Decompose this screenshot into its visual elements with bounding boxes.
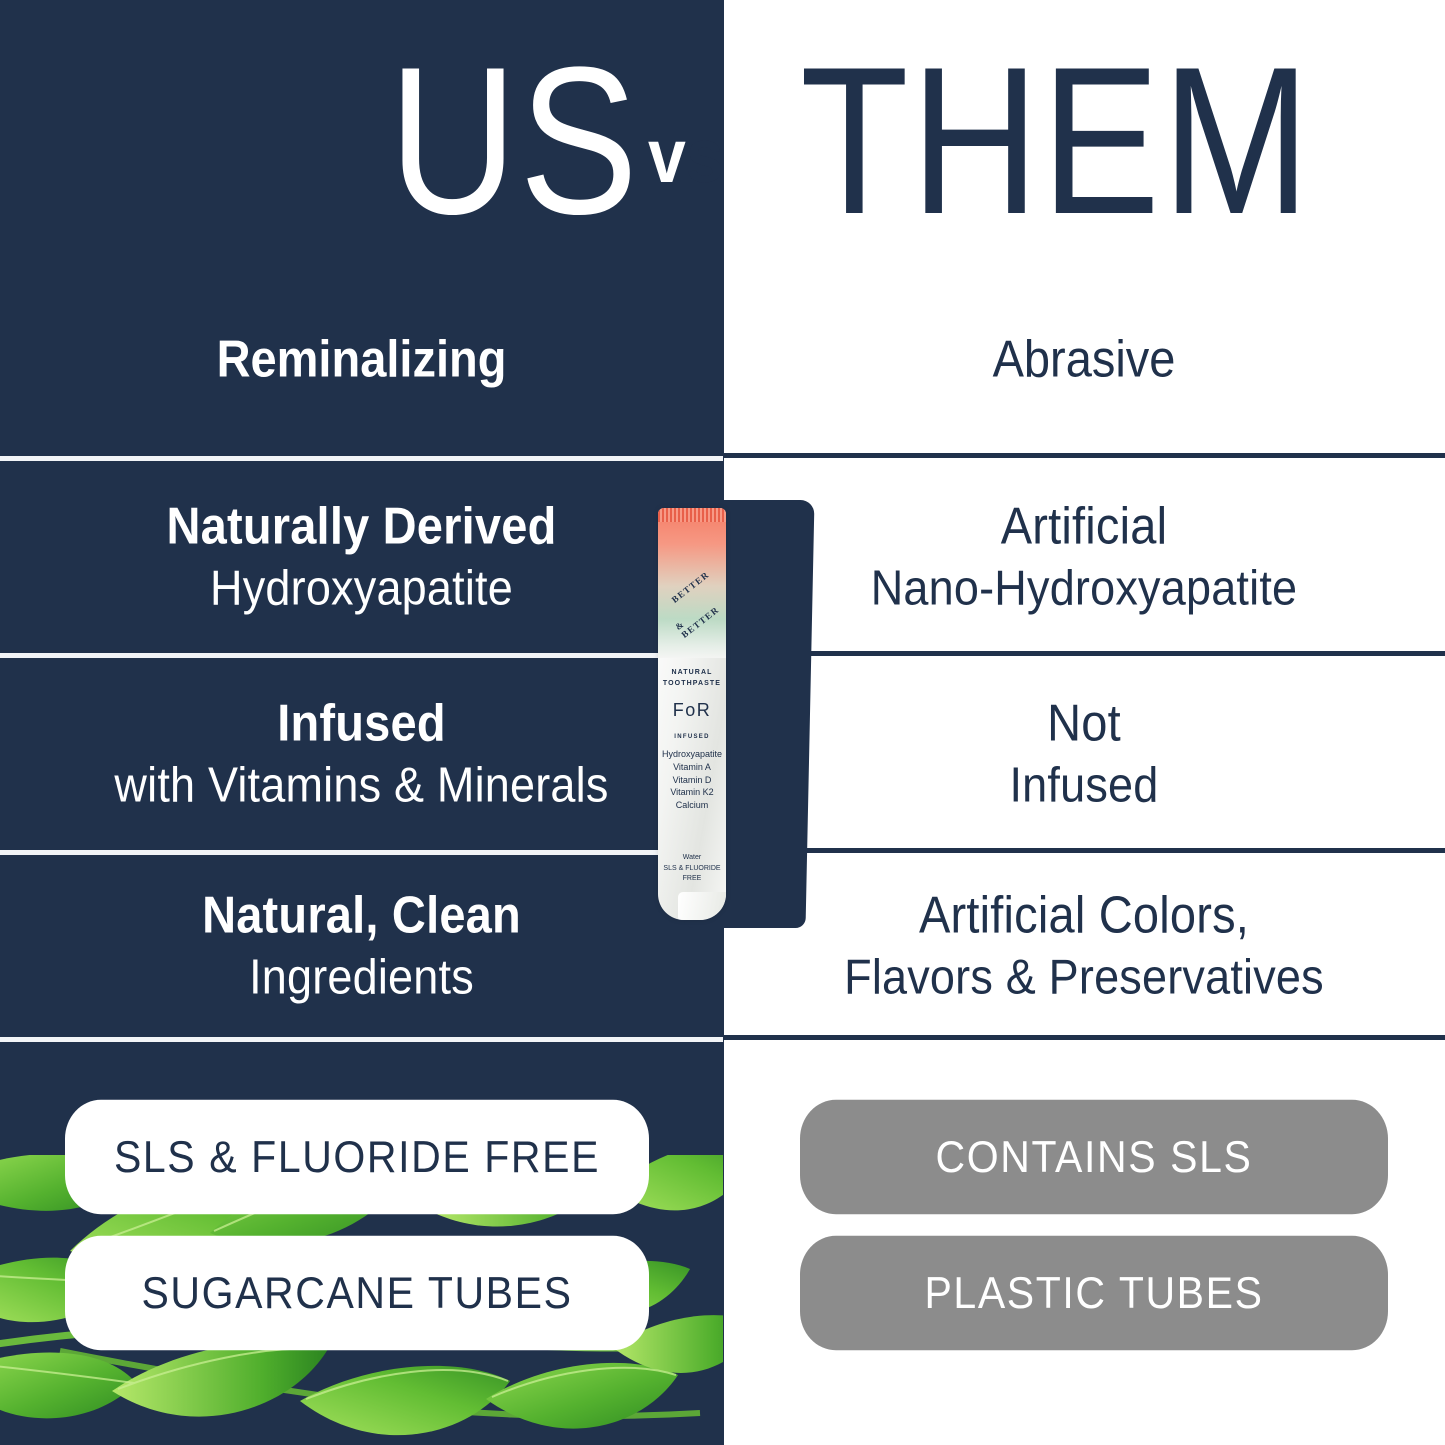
badge-us-sugarcane-tubes[interactable]: SUGARCANE TUBES [65,1236,649,1350]
badge-section: SLS & FLUORIDE FREE SUGARCANE TUBES CONT… [0,0,1445,1445]
us-vs-them-comparison-graphic: US vs THEM Reminalizing Abrasive Natural… [0,0,1445,1445]
badge-us-sls-fluoride-free[interactable]: SLS & FLUORIDE FREE [65,1100,649,1214]
badge-them-plastic-tubes[interactable]: PLASTIC TUBES [800,1236,1388,1350]
badge-them-contains-sls[interactable]: CONTAINS SLS [800,1100,1388,1214]
